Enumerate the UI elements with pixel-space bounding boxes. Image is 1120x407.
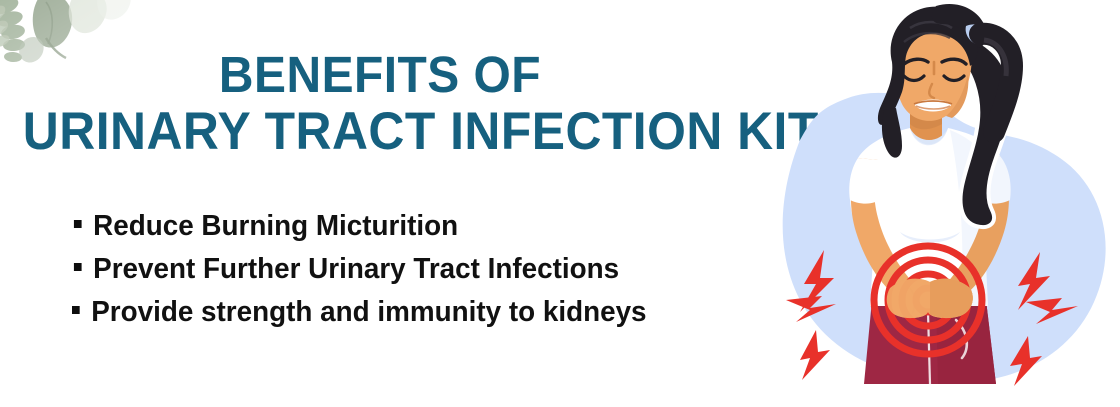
benefits-list: Reduce Burning Micturition Prevent Furth… — [0, 205, 760, 334]
square-bullet-icon — [74, 220, 82, 228]
square-bullet-icon — [74, 263, 82, 271]
woman-abdominal-pain-illustration — [760, 0, 1120, 407]
square-bullet-icon — [72, 306, 80, 314]
list-item-label: Provide strength and immunity to kidneys — [91, 291, 646, 334]
list-item: Reduce Burning Micturition — [0, 205, 730, 248]
title-line-2: URINARY TRACT INFECTION KIT — [23, 103, 737, 160]
list-item-label: Reduce Burning Micturition — [93, 205, 458, 248]
list-item: Provide strength and immunity to kidneys — [0, 291, 730, 334]
list-item: Prevent Further Urinary Tract Infections — [0, 248, 730, 291]
text-content: BENEFITS OF URINARY TRACT INFECTION KIT … — [0, 0, 760, 407]
title-line-1: BENEFITS OF — [23, 46, 737, 103]
benefits-banner: BENEFITS OF URINARY TRACT INFECTION KIT … — [0, 0, 1120, 407]
list-item-label: Prevent Further Urinary Tract Infections — [93, 248, 619, 291]
pain-rings-overlay — [887, 279, 973, 318]
banner-title: BENEFITS OF URINARY TRACT INFECTION KIT — [23, 46, 737, 160]
